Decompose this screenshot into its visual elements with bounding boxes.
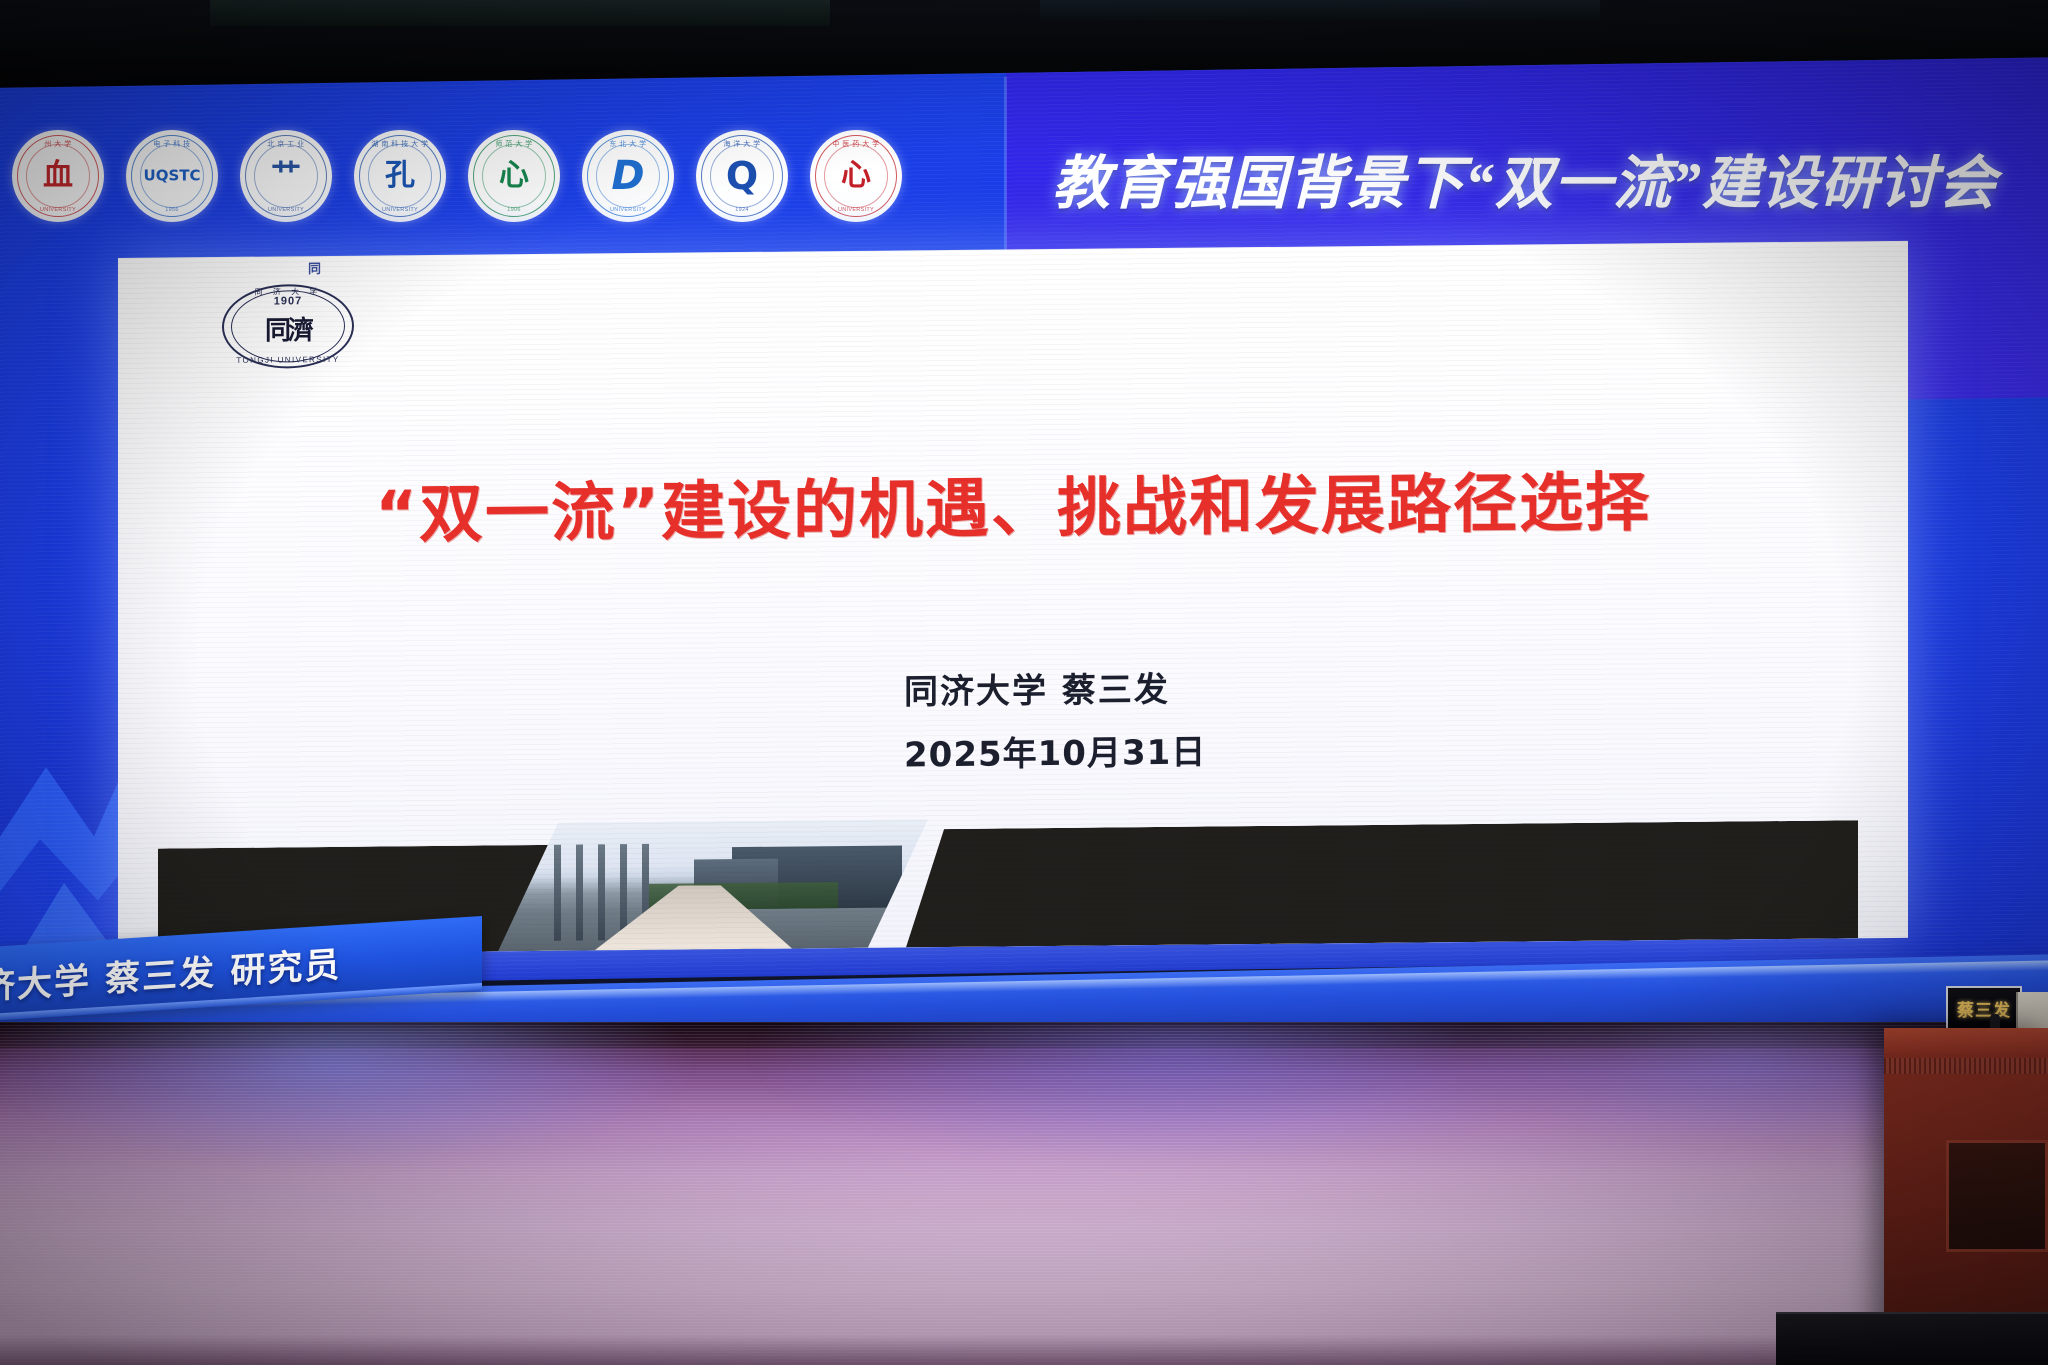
- emblem-ring-bottom-text: UNIVERSITY: [610, 207, 646, 213]
- conference-title: 教育强国背景下“双一流”建设研讨会: [1052, 136, 1997, 220]
- slide-date: 2025年10月31日: [904, 725, 1206, 777]
- emblem-ring-bottom-text: 1906: [507, 207, 520, 213]
- emblem-ring-bottom-text: UNIVERSITY: [268, 207, 304, 213]
- footer-band-right: [906, 820, 1858, 947]
- emblem-ring-top-text: 东 北 大 学: [609, 139, 646, 149]
- campus-photo: [498, 819, 928, 951]
- emblem-glyph-icon: 心: [841, 161, 871, 191]
- university-emblem: 北 京 工 业 艹 UNIVERSITY: [240, 130, 332, 222]
- emblem-ring-bottom-text: UNIVERSITY: [40, 207, 76, 213]
- slide-author: 同济大学 蔡三发: [904, 662, 1206, 714]
- emblem-ring-top-text: 师 范 大 学: [495, 139, 532, 149]
- logo-seal-mark: 同濟: [265, 310, 311, 347]
- university-emblem: 师 范 大 学 心 1906: [468, 130, 560, 222]
- logo-english-name: TONGJI UNIVERSITY: [236, 355, 339, 365]
- emblem-ring-top-text: 海 洋 大 学: [723, 139, 760, 149]
- logo-founding-year: 1907: [274, 295, 302, 307]
- emblem-glyph-icon: 艹: [271, 161, 301, 191]
- emblem-ring-top-text: 中 医 药 大 学: [832, 139, 879, 149]
- emblem-ring-bottom-text: 1956: [165, 207, 178, 213]
- podium-nameplate: 蔡三发: [1946, 986, 2022, 1030]
- university-emblem: 东 北 大 学 D UNIVERSITY: [582, 130, 674, 222]
- university-emblem: 湖 南 科 技 大 学 孔 UNIVERSITY: [354, 130, 446, 222]
- emblem-glyph-icon: 血: [43, 161, 73, 191]
- university-emblem: 海 洋 大 学 Q 1924: [696, 130, 788, 222]
- university-emblem: 中 医 药 大 学 心 UNIVERSITY: [810, 130, 902, 222]
- podium-ridges: [1884, 1058, 2048, 1074]
- emblem-ring-top-text: 电 子 科 技: [153, 139, 190, 149]
- emblem-ring-bottom-text: UNIVERSITY: [382, 207, 418, 213]
- ceiling-strip-left: [210, 0, 830, 26]
- emblem-ring-top-text: 州 大 学: [44, 139, 71, 149]
- emblem-ring-bottom-text: 1924: [735, 207, 748, 213]
- podium-top-surface: [1884, 1028, 2048, 1054]
- emblem-glyph-icon: 孔: [385, 161, 415, 191]
- foreground-equipment: [1776, 1312, 2048, 1365]
- podium-front-panel: [1946, 1140, 2048, 1252]
- floor-front-shadow: [0, 1335, 2048, 1365]
- emblem-glyph-icon: UQSTC: [144, 169, 201, 184]
- slide-title: “双一流”建设的机遇、挑战和发展路径选择: [118, 449, 1908, 558]
- slide-author-block: 同济大学 蔡三发 2025年10月31日: [904, 662, 1206, 777]
- emblem-ring-top-text: 湖 南 科 技 大 学: [371, 139, 428, 149]
- projected-slide: 同 济 大 学 1907 同濟 TONGJI UNIVERSITY 同 “双一流…: [118, 241, 1908, 955]
- university-emblem: 电 子 科 技 UQSTC 1956: [126, 130, 218, 222]
- emblem-glyph-icon: 心: [499, 161, 529, 191]
- emblem-ring-bottom-text: UNIVERSITY: [838, 207, 874, 213]
- emblem-ring-top-text: 北 京 工 业: [267, 139, 304, 149]
- stage-scene: 州 大 学 血 UNIVERSITY 电 子 科 技 UQSTC 1956 北 …: [0, 0, 2048, 1365]
- university-emblem: 州 大 学 血 UNIVERSITY: [12, 130, 104, 222]
- floor-plank-lines: [0, 1022, 2048, 1365]
- podium-nameplate-text: 蔡三发: [1957, 996, 2011, 1021]
- slide-corner-watermark: 同: [308, 258, 321, 277]
- emblem-glyph-icon: Q: [726, 157, 758, 195]
- emblem-glyph-icon: D: [611, 156, 644, 196]
- university-emblem-row: 州 大 学 血 UNIVERSITY 电 子 科 技 UQSTC 1956 北 …: [12, 130, 902, 222]
- ceiling-strip-right: [1040, 0, 1600, 20]
- stage-floor: [0, 1022, 2048, 1365]
- tongji-university-logo: 同 济 大 学 1907 同濟 TONGJI UNIVERSITY: [222, 284, 354, 369]
